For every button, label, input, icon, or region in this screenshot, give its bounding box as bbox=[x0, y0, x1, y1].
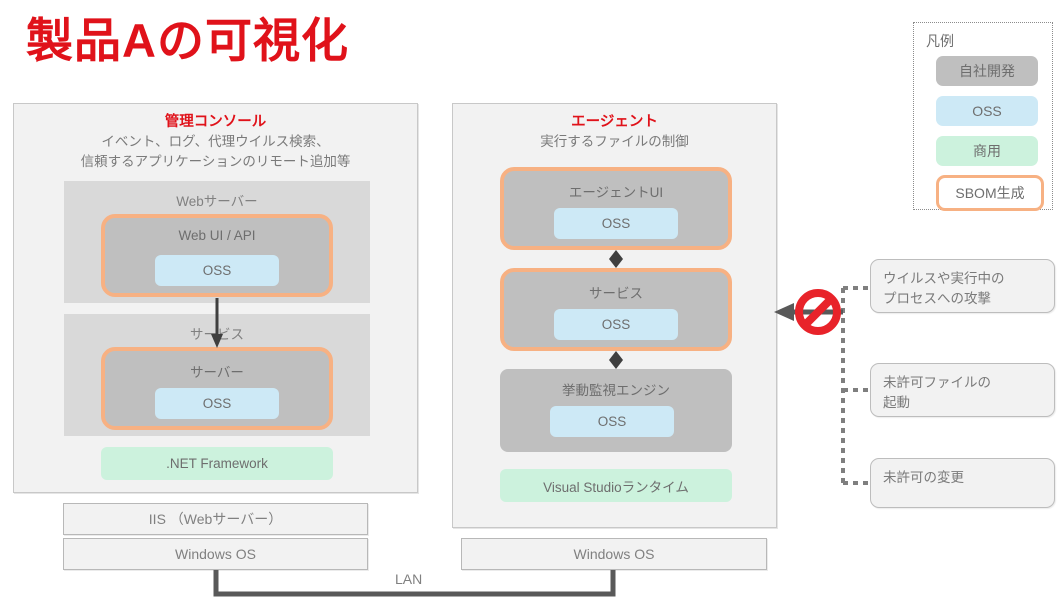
agent-title: エージェント bbox=[453, 113, 776, 133]
legend-item-in-house: 自社開発 bbox=[936, 56, 1038, 86]
legend-item-commercial: 商用 bbox=[936, 136, 1038, 166]
server-component: サーバー OSS bbox=[101, 347, 333, 430]
diagram-canvas: 製品Aの可視化 管理コンソール イベント、ログ、代理ウイルス検索、 信頼するアプ… bbox=[0, 0, 1059, 604]
agent-service-label: サービス bbox=[504, 282, 728, 302]
page-title: 製品Aの可視化 bbox=[26, 14, 349, 68]
web-ui-api-label: Web UI / API bbox=[105, 228, 329, 243]
agent-panel: エージェント 実行するファイルの制御 エージェントUI OSS サービス OSS… bbox=[452, 103, 777, 528]
legend-heading: 凡例 bbox=[926, 31, 954, 51]
server-label: サーバー bbox=[105, 361, 329, 381]
os-row-iis: IIS （Webサーバー） bbox=[63, 503, 368, 535]
diamond-connector-1 bbox=[609, 250, 623, 268]
agent-ui-label: エージェントUI bbox=[504, 181, 728, 201]
oss-chip-behavior-monitor: OSS bbox=[550, 406, 674, 437]
management-console-title: 管理コンソール bbox=[14, 113, 417, 133]
web-server-band-label: Webサーバー bbox=[64, 190, 370, 210]
legend-item-oss: OSS bbox=[936, 96, 1038, 126]
agent-subtitle: 実行するファイルの制御 bbox=[453, 132, 776, 152]
threat-callout-unauthorized-change: 未許可の変更 bbox=[870, 458, 1055, 508]
diamond-connector-2 bbox=[609, 351, 623, 369]
arrow-left-icon bbox=[774, 303, 794, 321]
oss-chip-agent-service: OSS bbox=[554, 309, 678, 340]
legend-box: 凡例 自社開発 OSS 商用 SBOM生成 bbox=[913, 22, 1053, 210]
lan-label: LAN bbox=[389, 571, 428, 587]
management-console-panel: 管理コンソール イベント、ログ、代理ウイルス検索、 信頼するアプリケーションのリ… bbox=[13, 103, 418, 493]
threat-callout-virus: ウイルスや実行中の プロセスへの攻撃 bbox=[870, 259, 1055, 313]
os-row-windows-left: Windows OS bbox=[63, 538, 368, 570]
oss-chip-web-ui-api: OSS bbox=[155, 255, 279, 286]
agent-ui-component: エージェントUI OSS bbox=[500, 167, 732, 250]
os-row-windows-right: Windows OS bbox=[461, 538, 767, 570]
dotnet-framework-box: .NET Framework bbox=[101, 447, 333, 480]
oss-chip-agent-ui: OSS bbox=[554, 208, 678, 239]
web-ui-api-component: Web UI / API OSS bbox=[101, 214, 333, 297]
vs-runtime-box: Visual Studioランタイム bbox=[500, 469, 732, 502]
threat-callout-unauthorized-file: 未許可ファイルの 起動 bbox=[870, 363, 1055, 417]
service-band-label: サービス bbox=[64, 323, 370, 343]
behavior-monitor-label: 挙動監視エンジン bbox=[500, 379, 732, 399]
legend-item-sbom: SBOM生成 bbox=[936, 175, 1044, 211]
agent-service-component: サービス OSS bbox=[500, 268, 732, 351]
oss-chip-server: OSS bbox=[155, 388, 279, 419]
management-console-subtitle: イベント、ログ、代理ウイルス検索、 信頼するアプリケーションのリモート追加等 bbox=[14, 132, 417, 171]
no-entry-icon bbox=[799, 293, 837, 331]
behavior-monitor-component: 挙動監視エンジン OSS bbox=[500, 369, 732, 452]
